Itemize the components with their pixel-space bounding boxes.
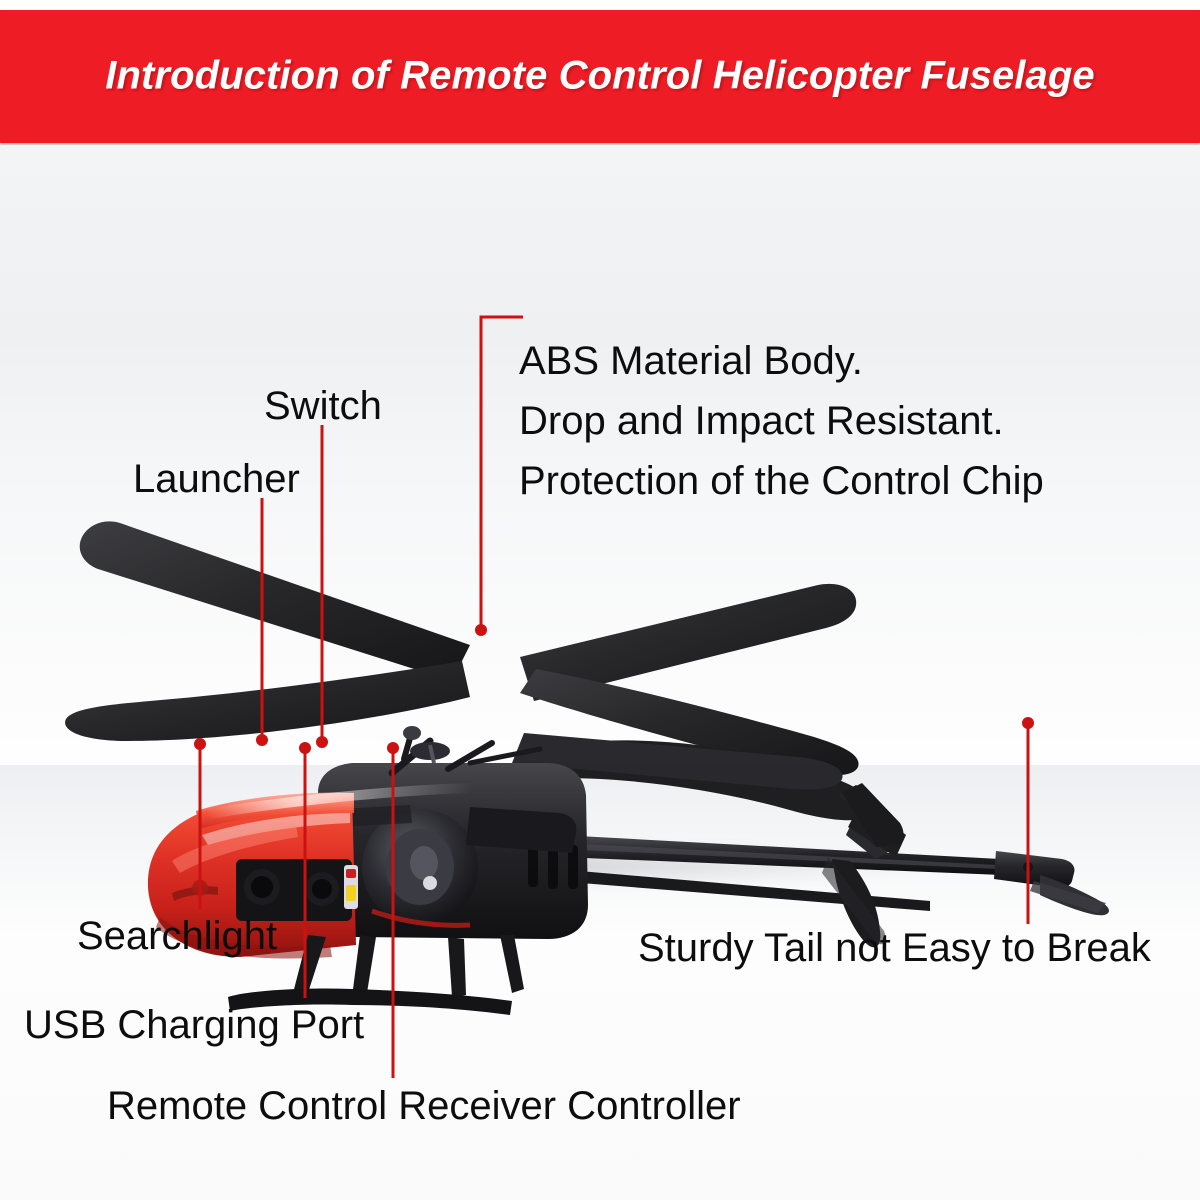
tail-boom [556, 835, 1002, 911]
nose-detail-pods [236, 859, 358, 921]
feature-text-block: ABS Material Body. Drop and Impact Resis… [519, 331, 1044, 511]
callout-label-switch: Switch [264, 386, 382, 426]
callout-label-sturdy-tail: Sturdy Tail not Easy to Break [638, 928, 1151, 968]
feature-line-3: Protection of the Control Chip [519, 451, 1044, 511]
callout-label-usb-charging-port: USB Charging Port [24, 1005, 364, 1045]
callout-label-launcher: Launcher [133, 459, 300, 499]
page-title: Introduction of Remote Control Helicopte… [0, 53, 1200, 98]
tail-rotor [994, 851, 1109, 915]
callout-label-searchlight: Searchlight [77, 916, 277, 956]
feature-line-2: Drop and Impact Resistant. [519, 391, 1044, 451]
feature-line-1: ABS Material Body. [519, 331, 1044, 391]
header-banner: Introduction of Remote Control Helicopte… [0, 10, 1200, 143]
callout-label-receiver-controller: Remote Control Receiver Controller [107, 1086, 741, 1126]
infographic-page: Introduction of Remote Control Helicopte… [0, 0, 1200, 1200]
